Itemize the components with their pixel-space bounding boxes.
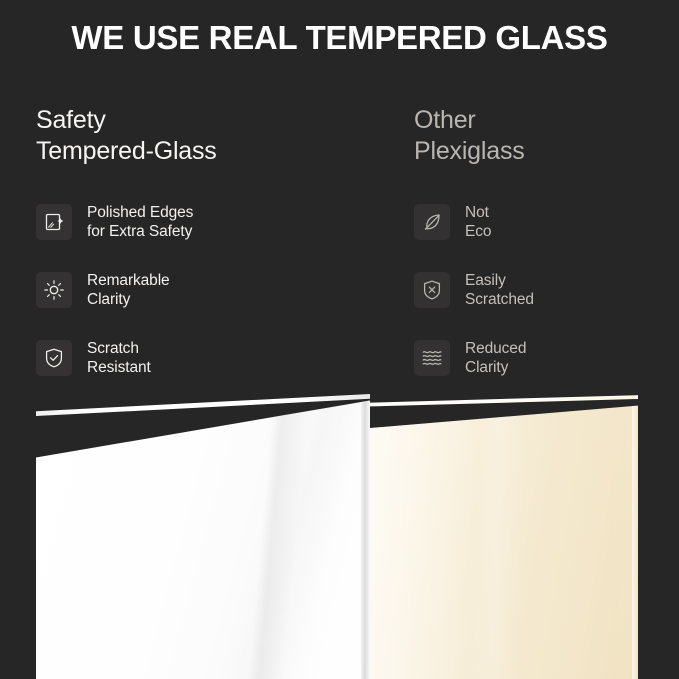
comparison-columns: Safety Tempered-Glass Polished Edges fo bbox=[0, 105, 679, 405]
shield-check-icon bbox=[36, 340, 72, 376]
feature-label-line1: Not bbox=[465, 204, 489, 221]
feature-label: Easily Scratched bbox=[465, 271, 534, 309]
glass-panels-photo bbox=[0, 390, 679, 679]
feature-list-left: Polished Edges for Extra Safety bbox=[36, 200, 376, 404]
column-heading-left: Safety Tempered-Glass bbox=[36, 105, 376, 167]
feature-list-right: Not Eco Easily Scratched bbox=[414, 200, 674, 404]
column-heading-left-line1: Safety bbox=[36, 106, 106, 134]
plexiglass-panel-right-edge bbox=[632, 390, 638, 679]
feature-item: Not Eco bbox=[414, 200, 674, 244]
feature-label-line1: Polished Edges bbox=[87, 204, 193, 221]
feature-label-line2: Resistant bbox=[87, 358, 151, 377]
feature-label-line2: for Extra Safety bbox=[87, 222, 193, 241]
feature-label: Not Eco bbox=[465, 203, 491, 241]
plexiglass-panel-sheen bbox=[366, 390, 638, 679]
feature-label-line2: Clarity bbox=[465, 358, 526, 377]
feature-item: Polished Edges for Extra Safety bbox=[36, 200, 376, 244]
wavy-lines-icon bbox=[414, 340, 450, 376]
page-title: WE USE REAL TEMPERED GLASS bbox=[0, 18, 679, 58]
feature-item: Easily Scratched bbox=[414, 268, 674, 312]
column-tempered-glass: Safety Tempered-Glass Polished Edges fo bbox=[36, 105, 376, 167]
sun-brightness-icon bbox=[36, 272, 72, 308]
column-heading-right: Other Plexiglass bbox=[414, 105, 674, 167]
product-comparison-infographic: WE USE REAL TEMPERED GLASS Safety Temper… bbox=[0, 0, 679, 679]
column-heading-right-line1: Other bbox=[414, 106, 476, 134]
feature-label: Scratch Resistant bbox=[87, 339, 151, 377]
feature-label-line1: Easily bbox=[465, 272, 506, 289]
feature-label: Remarkable Clarity bbox=[87, 271, 170, 309]
feature-label: Polished Edges for Extra Safety bbox=[87, 203, 193, 241]
column-heading-left-line2: Tempered-Glass bbox=[36, 136, 376, 167]
feature-label-line2: Scratched bbox=[465, 290, 534, 309]
shield-x-icon bbox=[414, 272, 450, 308]
tempered-glass-panel bbox=[36, 390, 370, 679]
feature-label: Reduced Clarity bbox=[465, 339, 526, 377]
tempered-glass-panel-sheen bbox=[36, 390, 370, 679]
feature-label-line1: Reduced bbox=[465, 340, 526, 357]
feature-label-line2: Clarity bbox=[87, 290, 170, 309]
column-plexiglass: Other Plexiglass Not Eco bbox=[414, 105, 674, 167]
polished-glass-sparkle-icon bbox=[36, 204, 72, 240]
feature-item: Scratch Resistant bbox=[36, 336, 376, 380]
feature-label-line1: Scratch bbox=[87, 340, 139, 357]
leaf-crossed-out-icon bbox=[414, 204, 450, 240]
feature-label-line2: Eco bbox=[465, 222, 491, 241]
feature-item: Reduced Clarity bbox=[414, 336, 674, 380]
plexiglass-panel bbox=[366, 390, 638, 679]
tempered-glass-panel-right-edge bbox=[361, 390, 370, 679]
feature-item: Remarkable Clarity bbox=[36, 268, 376, 312]
feature-label-line1: Remarkable bbox=[87, 272, 170, 289]
column-heading-right-line2: Plexiglass bbox=[414, 136, 674, 167]
